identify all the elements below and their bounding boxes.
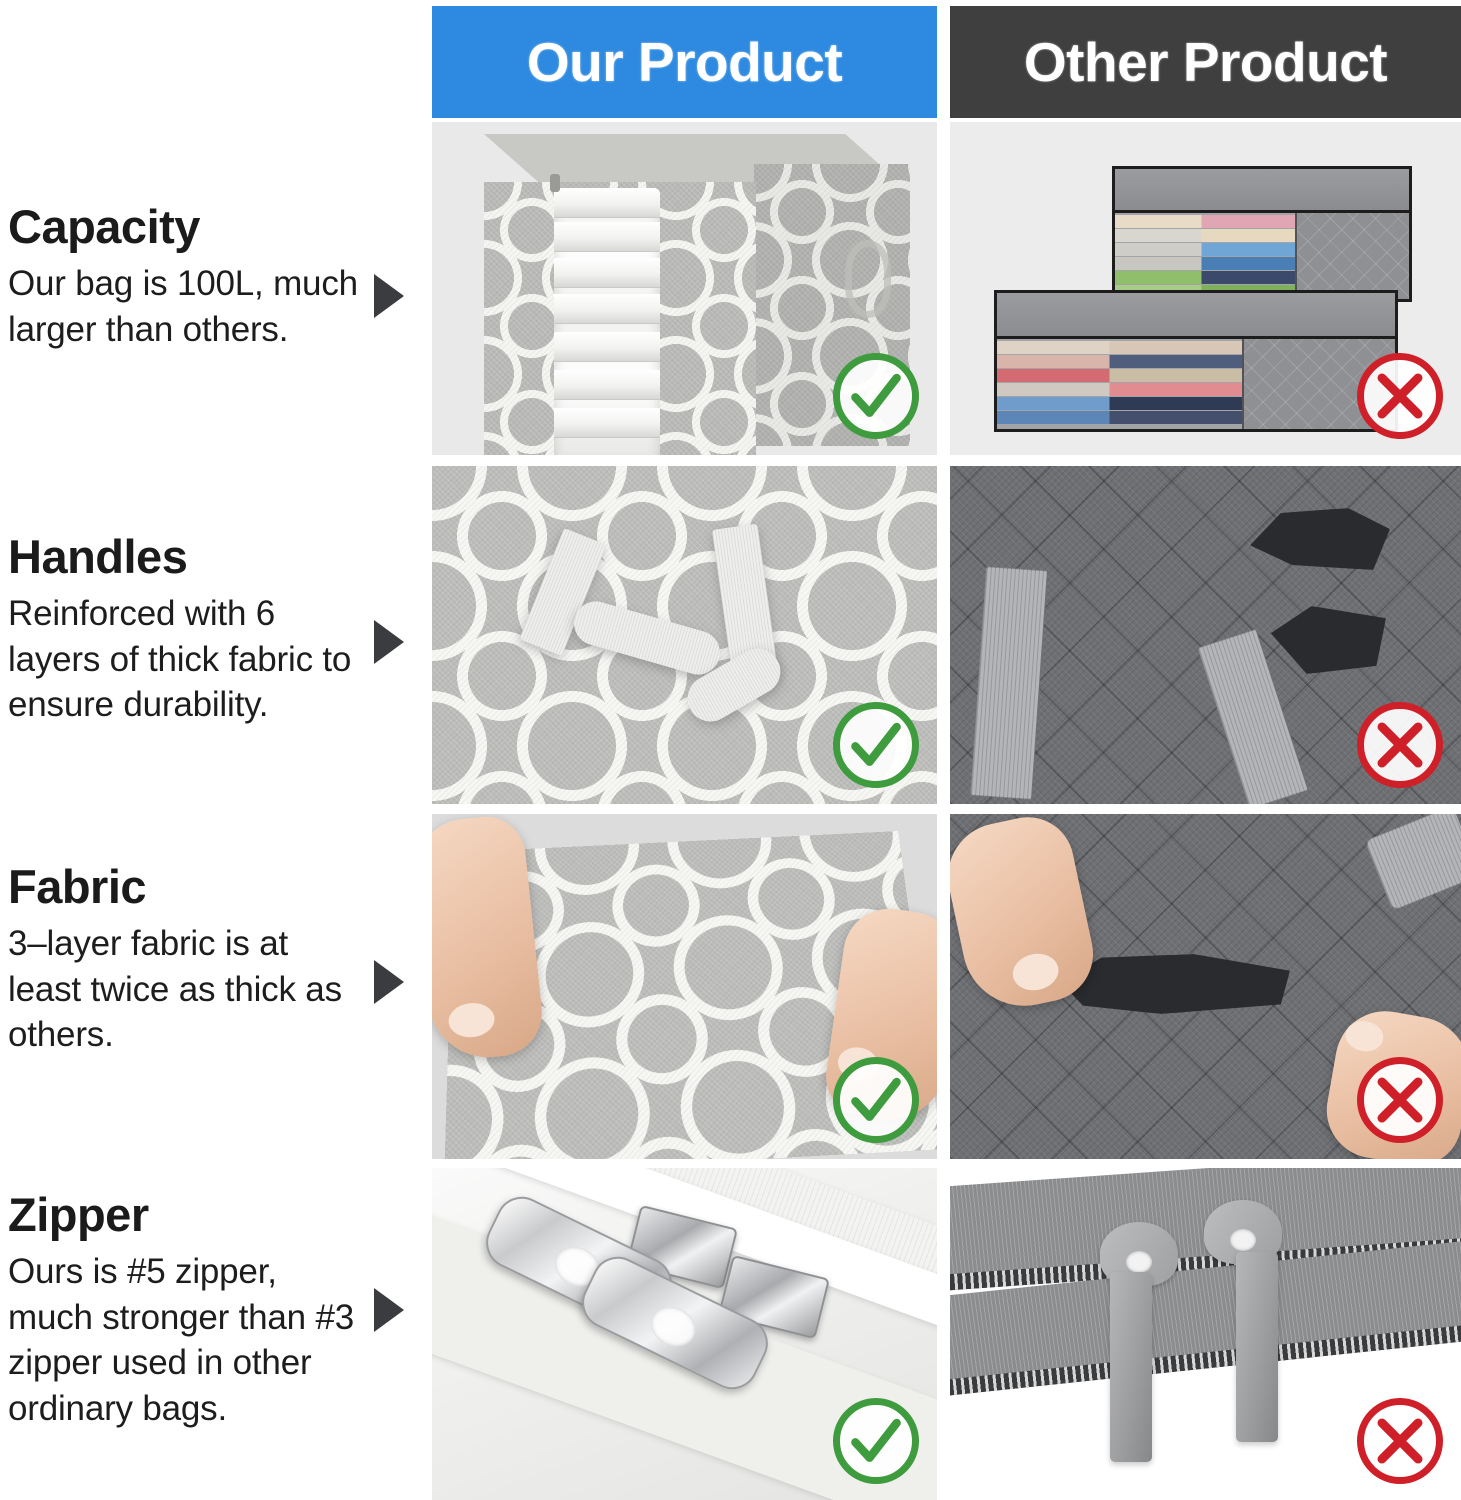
verdict-badge-cross [1357,702,1443,788]
other-product-label: Other Product [1024,30,1387,94]
verdict-badge-cross [1357,1398,1443,1484]
verdict-badge-check [833,353,919,439]
feature-title-zipper: Zipper [8,1190,428,1239]
image-cell-other-zipper [950,1168,1461,1500]
arrow-marker-fabric [374,960,404,1004]
arrow-marker-zipper [374,1288,404,1332]
cross-icon [1369,365,1431,427]
check-icon [845,365,907,427]
bag-clear-window [554,188,660,455]
feature-block-handles: Handles Reinforced with 6 layers of thic… [8,532,428,728]
column-header-our-product: Our Product [432,6,937,118]
image-cell-our-zipper [432,1168,937,1500]
zipper-pull-tab-two [1236,1252,1278,1442]
feature-block-zipper: Zipper Ours is #5 zipper, much stronger … [8,1190,428,1431]
cross-icon [1369,1410,1431,1472]
comparison-infographic: Our Product Other Product Capacity Our b… [0,0,1461,1500]
frayed-edge [1364,814,1461,911]
image-cell-other-fabric [950,814,1461,1159]
feature-body-handles: Reinforced with 6 layers of thick fabric… [8,591,363,728]
check-icon [845,714,907,776]
feature-body-zipper: Ours is #5 zipper, much stronger than #3… [8,1249,363,1431]
feature-title-fabric: Fabric [8,862,428,911]
check-icon [845,1410,907,1472]
check-icon [845,1069,907,1131]
feature-block-capacity: Capacity Our bag is 100L, much larger th… [8,202,428,352]
feature-body-capacity: Our bag is 100L, much larger than others… [8,261,363,352]
image-cell-our-fabric [432,814,937,1159]
other-bag-lower [994,290,1398,432]
fabric-tear-upper [1250,508,1390,570]
feature-body-fabric: 3–layer fabric is at least twice as thic… [8,921,363,1058]
handle-strap-loop [569,596,725,680]
image-cell-our-handles [432,466,937,804]
feature-title-capacity: Capacity [8,202,428,251]
other-bag-upper [1112,166,1412,302]
image-cell-other-capacity [950,122,1461,455]
column-header-other-product: Other Product [950,6,1461,118]
fabric-tear-lower [1266,606,1386,674]
verdict-badge-check [833,702,919,788]
bag-side-handle [845,240,891,318]
cross-icon [1369,714,1431,776]
feature-block-fabric: Fabric 3–layer fabric is at least twice … [8,862,428,1058]
torn-handle-strap-left [970,566,1048,800]
bag-zipper-pull [550,174,560,192]
verdict-badge-cross [1357,353,1443,439]
image-cell-our-capacity [432,122,937,455]
fabric-tear [1060,954,1290,1014]
our-product-label: Our Product [527,30,842,94]
verdict-badge-check [833,1057,919,1143]
arrow-marker-capacity [374,274,404,318]
image-cell-other-handles [950,466,1461,804]
verdict-badge-cross [1357,1057,1443,1143]
hand-left [950,814,1102,1017]
zipper-pull-tab-one [1110,1272,1152,1462]
feature-title-handles: Handles [8,532,428,581]
arrow-marker-handles [374,620,404,664]
cross-icon [1369,1069,1431,1131]
verdict-badge-check [833,1398,919,1484]
